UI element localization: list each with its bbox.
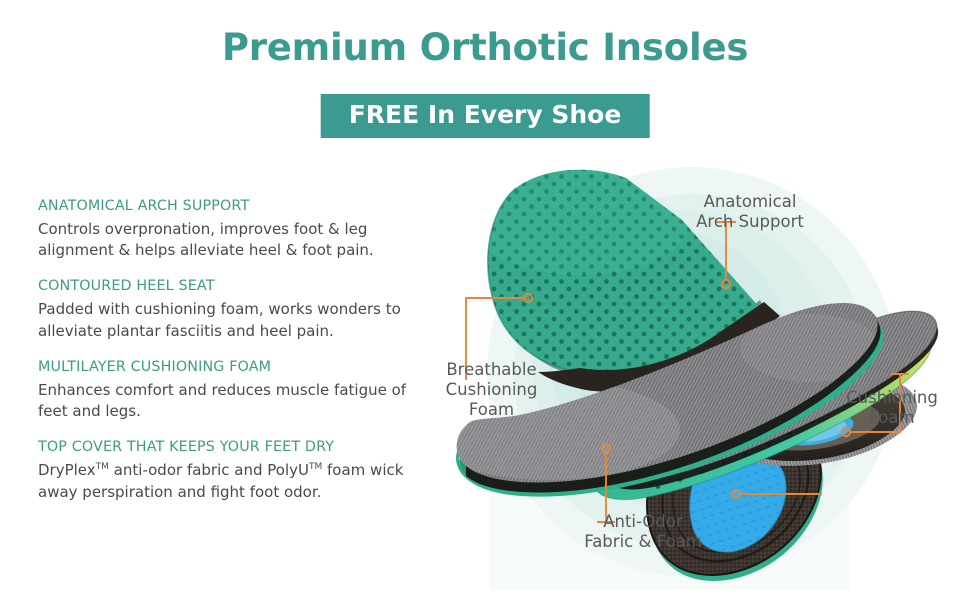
callout-label-line: Foam [424,400,559,420]
feature-item-top-cover-dry: TOP COVER THAT KEEPS YOUR FEET DRY DryPl… [38,439,438,502]
page-title: Premium Orthotic Insoles [0,28,970,69]
callout-label-anti-odor-fabric-foam: Anti-Odor Fabric & Foam [548,512,738,552]
feature-body: Controls overpronation, improves foot & … [38,219,438,262]
feature-item-arch-support: ANATOMICAL ARCH SUPPORT Controls overpro… [38,198,438,261]
callout-label-line: Cushioning [424,380,559,400]
callout-label-line: Anatomical [655,192,845,212]
feature-body-segment: DryPlex [38,461,96,479]
feature-heading: MULTILAYER CUSHIONING FOAM [38,359,438,377]
feature-body: Padded with cushioning foam, works wonde… [38,299,438,342]
callout-label-line: Cushioning [822,388,962,408]
callout-label-line: Anti-Odor [548,512,738,532]
feature-list: ANATOMICAL ARCH SUPPORT Controls overpro… [38,198,438,520]
free-in-every-shoe-badge: FREE In Every Shoe [321,94,650,138]
trademark-symbol: TM [96,462,109,472]
feature-body: DryPlexTM anti-odor fabric and PolyUTM f… [38,460,438,503]
callout-label-line: Foam [822,408,962,428]
callout-label-anatomical-arch-support: Anatomical Arch Support [655,192,845,232]
feature-heading: ANATOMICAL ARCH SUPPORT [38,198,438,216]
feature-heading: TOP COVER THAT KEEPS YOUR FEET DRY [38,439,438,457]
callout-label-line: Fabric & Foam [548,532,738,552]
feature-body-segment: anti-odor fabric and PolyU [109,461,309,479]
feature-body: Enhances comfort and reduces muscle fati… [38,380,438,423]
feature-heading: CONTOURED HEEL SEAT [38,278,438,296]
callout-label-breathable-cushioning-foam: Breathable Cushioning Foam [424,360,559,420]
feature-item-heel-seat: CONTOURED HEEL SEAT Padded with cushioni… [38,278,438,341]
callout-label-cushioning-foam: Cushioning Foam [822,388,962,428]
callout-label-line: Arch Support [655,212,845,232]
trademark-symbol: TM [309,462,322,472]
callout-label-line: Breathable [424,360,559,380]
feature-item-cushioning-foam: MULTILAYER CUSHIONING FOAM Enhances comf… [38,359,438,422]
